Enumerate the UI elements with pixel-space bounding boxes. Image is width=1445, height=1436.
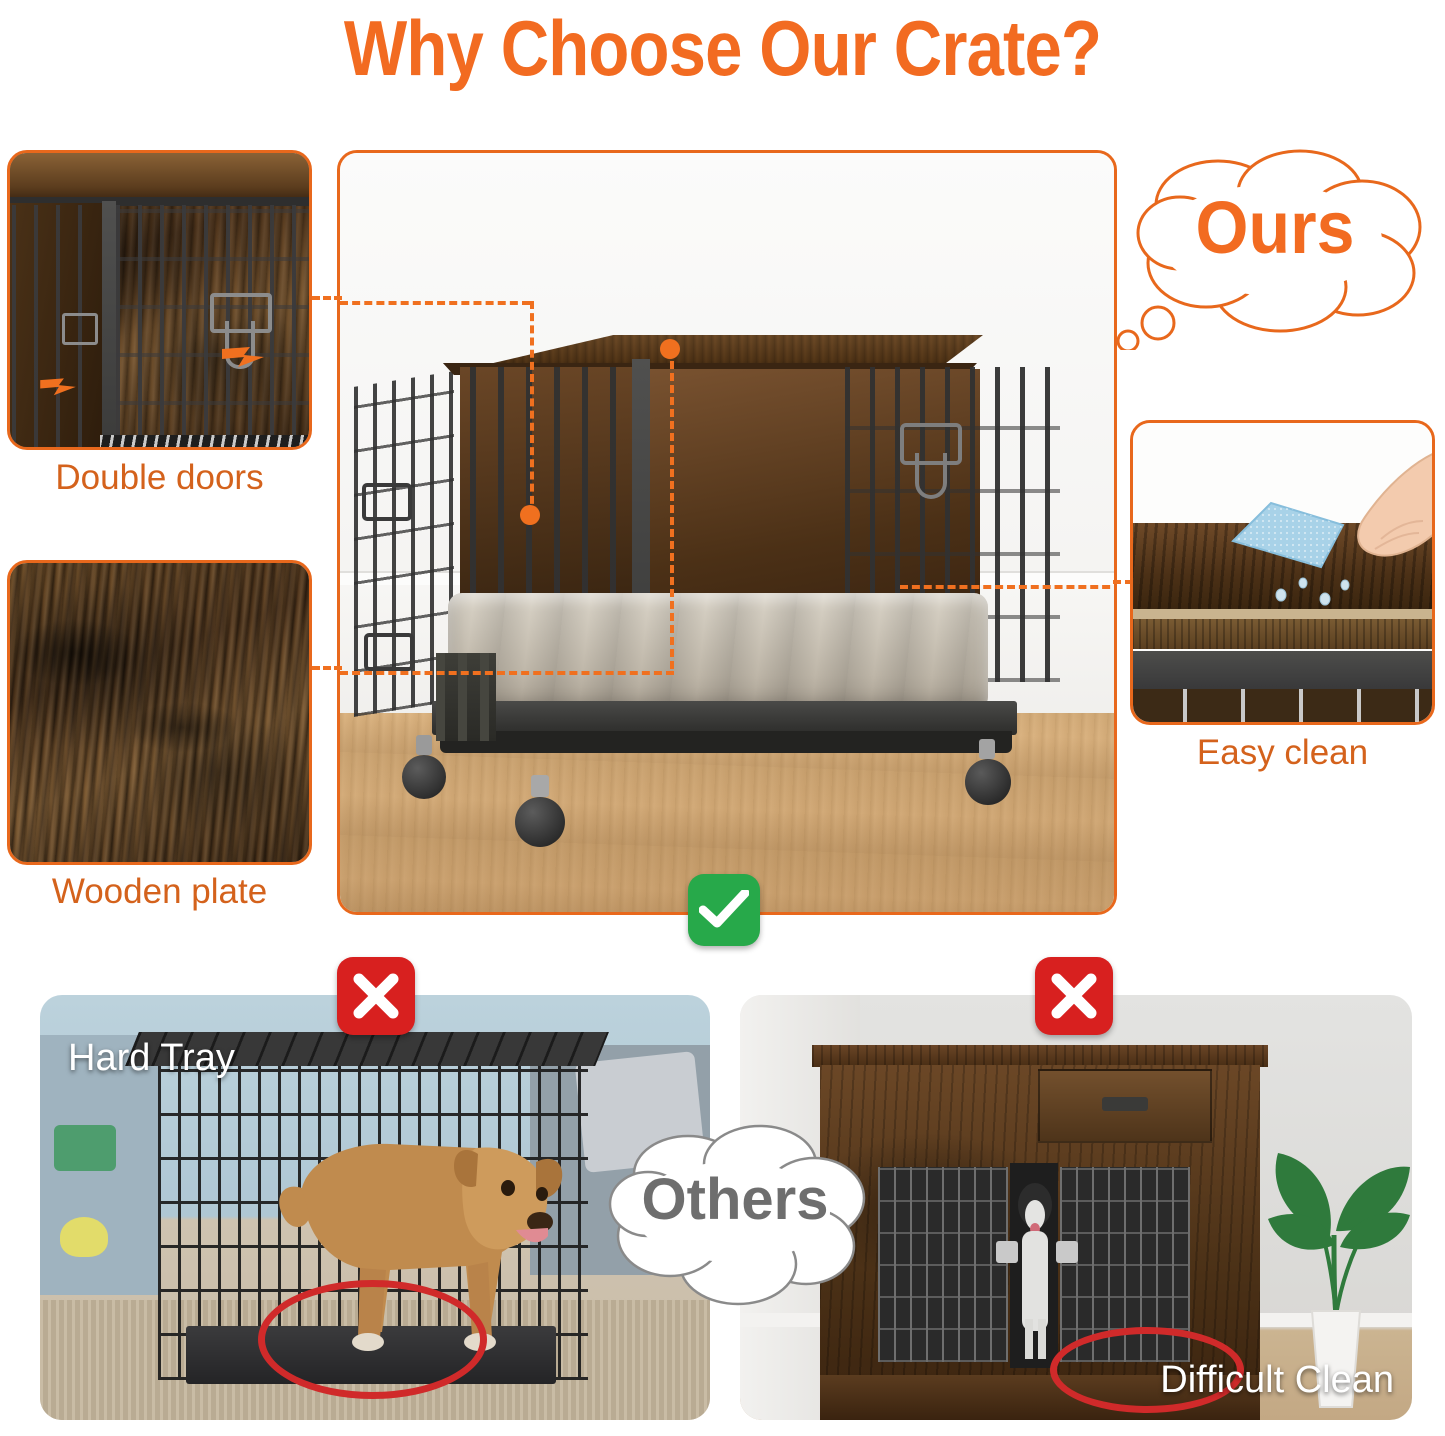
crate-tray-lip (440, 731, 1012, 753)
annotation-ellipse-hard-tray (258, 1280, 487, 1399)
connector-dot-double-doors (520, 505, 540, 525)
crate-tray (432, 701, 1017, 735)
crate-top-panel (7, 153, 312, 201)
feature-panel-double-doors (7, 150, 312, 450)
ours-bubble: Ours (1110, 145, 1440, 350)
status-badge-ours-check (688, 874, 760, 946)
feature-panel-easy-clean (1130, 420, 1435, 725)
background-flowers (60, 1217, 108, 1257)
connector-dot-top (660, 339, 680, 359)
orange-arrow-icon-front (220, 343, 266, 374)
connector-line-double-doors-h (340, 301, 530, 305)
caster-wheel-front-center (515, 775, 565, 847)
connector-line-easy-clean-h (900, 585, 1117, 589)
feature-caption-easy-clean: Easy clean (1130, 733, 1435, 773)
water-droplets-icon (1273, 573, 1363, 618)
others-bubble: Others (600, 1118, 870, 1318)
comparison-label-difficult-clean: Difficult Clean (1160, 1359, 1394, 1402)
dog-behind-door-illustration (1012, 1171, 1058, 1371)
crate-floor-grid (100, 435, 312, 450)
status-badge-difficult-clean-cross (1035, 957, 1113, 1035)
wooden-plate-grain-overlay (10, 563, 309, 862)
hand-icon (1303, 443, 1435, 578)
ours-bubble-label: Ours (1123, 185, 1427, 270)
crate-left-latch (362, 483, 412, 521)
caster-wheel-front-left (402, 735, 446, 799)
easy-clean-edge-band (1130, 619, 1435, 649)
connector-bridge-double-doors (312, 296, 342, 300)
background-shelf-item (54, 1125, 116, 1171)
cross-icon (351, 971, 401, 1021)
feature-caption-double-doors: Double doors (7, 458, 312, 498)
connector-line-wooden-plate-h (340, 671, 674, 675)
check-icon (699, 890, 749, 930)
easy-clean-lower-slats (1130, 689, 1435, 725)
crate-right-latch-hook (915, 453, 947, 499)
connector-bridge-wooden-plate (312, 666, 342, 670)
connector-line-double-doors-v (530, 301, 534, 516)
crate-base-slats (436, 653, 496, 741)
status-badge-hard-tray-cross (337, 957, 415, 1035)
feature-panel-wooden-plate (7, 560, 312, 865)
connector-line-top-v (670, 349, 674, 669)
page-title: Why Choose Our Crate? (101, 2, 1344, 94)
easy-clean-metal-rail (1130, 651, 1435, 689)
crate-corner-post (102, 201, 116, 450)
comparison-label-hard-tray: Hard Tray (68, 1037, 235, 1080)
crate-cushion-bed (448, 593, 988, 711)
crate-latch-side (62, 313, 98, 345)
cross-icon (1049, 971, 1099, 1021)
main-product-panel (337, 150, 1117, 915)
feature-caption-wooden-plate: Wooden plate (7, 872, 312, 912)
others-bubble-label: Others (600, 1166, 870, 1233)
orange-arrow-icon-side (38, 375, 78, 402)
crate-left-latch-lower (364, 633, 414, 671)
caster-wheel-right (965, 739, 1011, 805)
